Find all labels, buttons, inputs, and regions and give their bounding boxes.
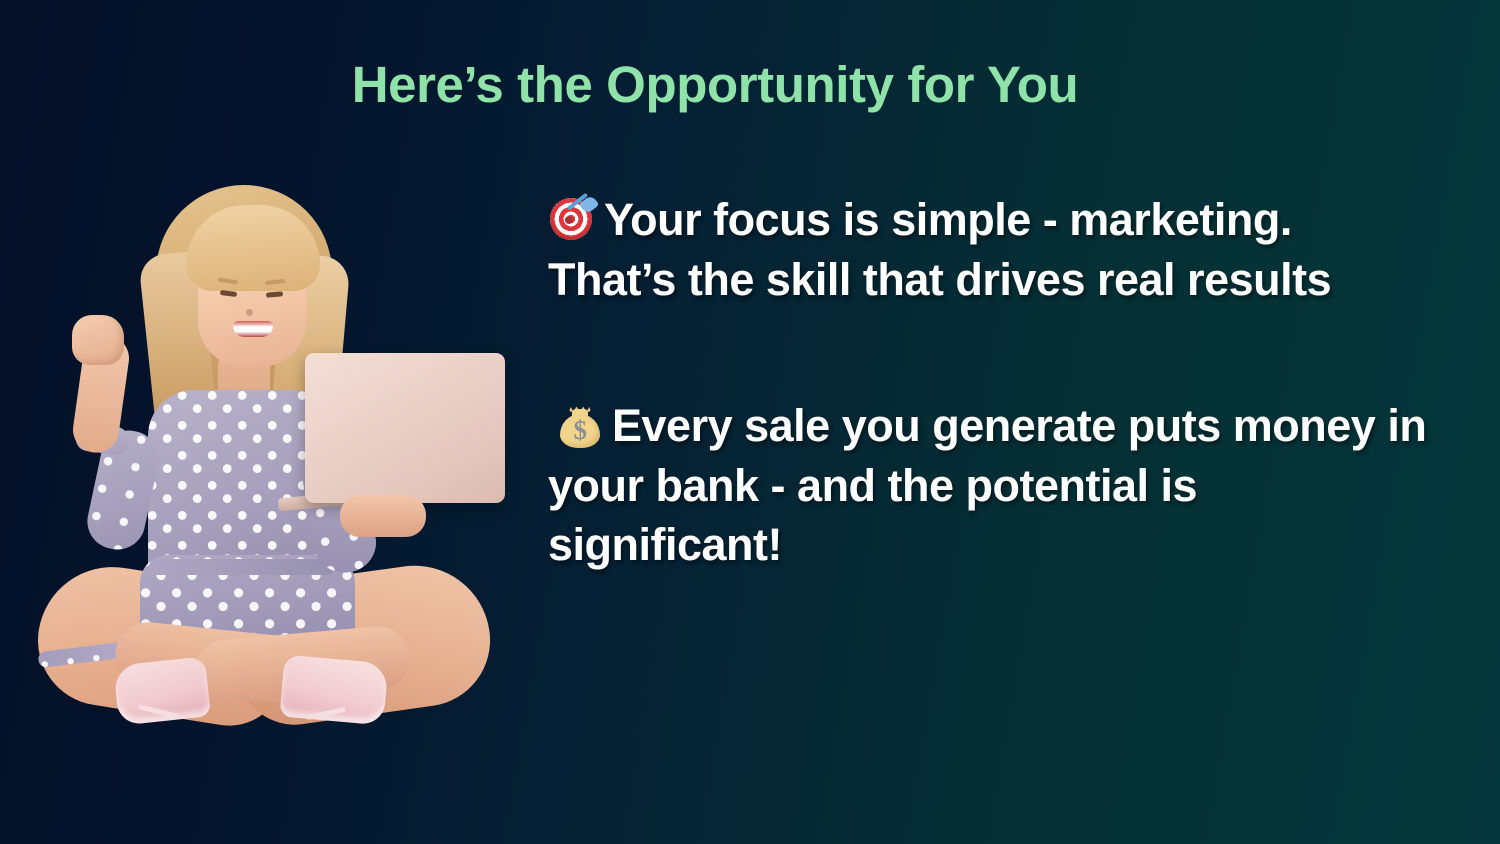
paragraph-money-text: Every sale you generate puts money in yo… <box>548 400 1426 571</box>
page-title: Here’s the Opportunity for You <box>0 55 1430 114</box>
raised-fist <box>72 315 124 365</box>
laptop-lid <box>305 353 505 503</box>
body-copy: Your focus is simple - marketing. That’s… <box>548 190 1428 575</box>
dollar-sign: $ <box>556 417 604 444</box>
bullet-paragraph-money: $ Every sale you generate puts money in … <box>548 396 1428 576</box>
hand-holding-laptop <box>340 495 426 537</box>
cheek-mole <box>246 309 253 316</box>
slide-canvas: Here’s the Opportunity for You <box>0 0 1500 844</box>
romper-belt <box>152 559 334 575</box>
right-pink-sneaker <box>279 655 388 726</box>
money-bag-icon: $ <box>556 403 604 451</box>
bullet-paragraph-focus: Your focus is simple - marketing. That’s… <box>548 190 1428 310</box>
smiling-mouth <box>233 321 273 337</box>
direct-hit-icon <box>548 196 596 244</box>
paragraph-focus-text: Your focus is simple - marketing. That’s… <box>548 194 1331 305</box>
hero-photo-woman-with-laptop <box>20 175 530 735</box>
dart-tip <box>565 216 573 224</box>
